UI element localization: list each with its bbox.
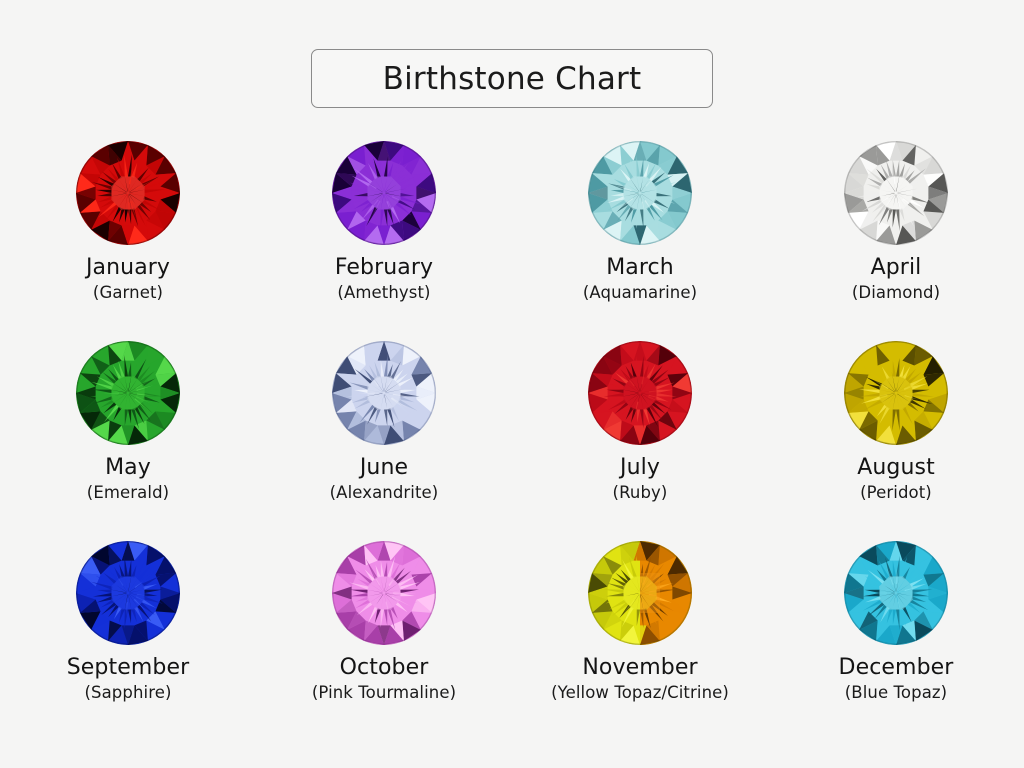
month-label: June bbox=[360, 456, 408, 481]
stone-label: (Emerald) bbox=[87, 484, 169, 502]
stone-label: (Peridot) bbox=[860, 484, 932, 502]
stone-label: (Garnet) bbox=[93, 284, 163, 302]
gem-icon-split bbox=[587, 540, 693, 646]
birthstone-cell-december[interactable]: December(Blue Topaz) bbox=[768, 540, 1024, 740]
month-label: December bbox=[839, 656, 954, 681]
month-label: November bbox=[582, 656, 697, 681]
gem-icon bbox=[75, 340, 181, 446]
gem-icon bbox=[75, 140, 181, 246]
gem-icon bbox=[587, 140, 693, 246]
stone-label: (Diamond) bbox=[852, 284, 940, 302]
month-label: March bbox=[606, 256, 674, 281]
birthstone-chart-page: Birthstone Chart January(Garnet)February… bbox=[0, 0, 1024, 768]
birthstone-cell-may[interactable]: May(Emerald) bbox=[0, 340, 256, 540]
month-label: February bbox=[335, 256, 433, 281]
birthstone-cell-october[interactable]: October(Pink Tourmaline) bbox=[256, 540, 512, 740]
birthstone-cell-march[interactable]: March(Aquamarine) bbox=[512, 140, 768, 340]
month-label: August bbox=[857, 456, 935, 481]
birthstone-cell-july[interactable]: July(Ruby) bbox=[512, 340, 768, 540]
birthstone-cell-november[interactable]: November(Yellow Topaz/Citrine) bbox=[512, 540, 768, 740]
stone-label: (Sapphire) bbox=[84, 684, 171, 702]
gem-icon bbox=[331, 140, 437, 246]
gem-icon bbox=[331, 340, 437, 446]
month-label: May bbox=[105, 456, 151, 481]
month-label: July bbox=[620, 456, 660, 481]
title-box: Birthstone Chart bbox=[311, 49, 713, 108]
birthstone-cell-january[interactable]: January(Garnet) bbox=[0, 140, 256, 340]
gem-icon bbox=[331, 540, 437, 646]
gem-icon bbox=[843, 540, 949, 646]
title-container: Birthstone Chart bbox=[0, 49, 1024, 108]
birthstone-cell-june[interactable]: June(Alexandrite) bbox=[256, 340, 512, 540]
stone-label: (Yellow Topaz/Citrine) bbox=[551, 684, 729, 702]
stone-label: (Blue Topaz) bbox=[845, 684, 947, 702]
birthstone-cell-february[interactable]: February(Amethyst) bbox=[256, 140, 512, 340]
gem-icon bbox=[75, 540, 181, 646]
stone-label: (Pink Tourmaline) bbox=[312, 684, 456, 702]
gem-icon bbox=[843, 140, 949, 246]
birthstone-cell-august[interactable]: August(Peridot) bbox=[768, 340, 1024, 540]
birthstone-cell-september[interactable]: September(Sapphire) bbox=[0, 540, 256, 740]
month-label: September bbox=[67, 656, 190, 681]
month-label: January bbox=[86, 256, 170, 281]
birthstone-grid: January(Garnet)February(Amethyst)March(A… bbox=[0, 140, 1024, 740]
stone-label: (Alexandrite) bbox=[330, 484, 439, 502]
page-title: Birthstone Chart bbox=[383, 61, 642, 97]
gem-icon bbox=[587, 340, 693, 446]
birthstone-cell-april[interactable]: April(Diamond) bbox=[768, 140, 1024, 340]
gem-icon bbox=[843, 340, 949, 446]
stone-label: (Ruby) bbox=[613, 484, 668, 502]
stone-label: (Amethyst) bbox=[337, 284, 430, 302]
month-label: April bbox=[871, 256, 922, 281]
month-label: October bbox=[340, 656, 429, 681]
stone-label: (Aquamarine) bbox=[583, 284, 697, 302]
